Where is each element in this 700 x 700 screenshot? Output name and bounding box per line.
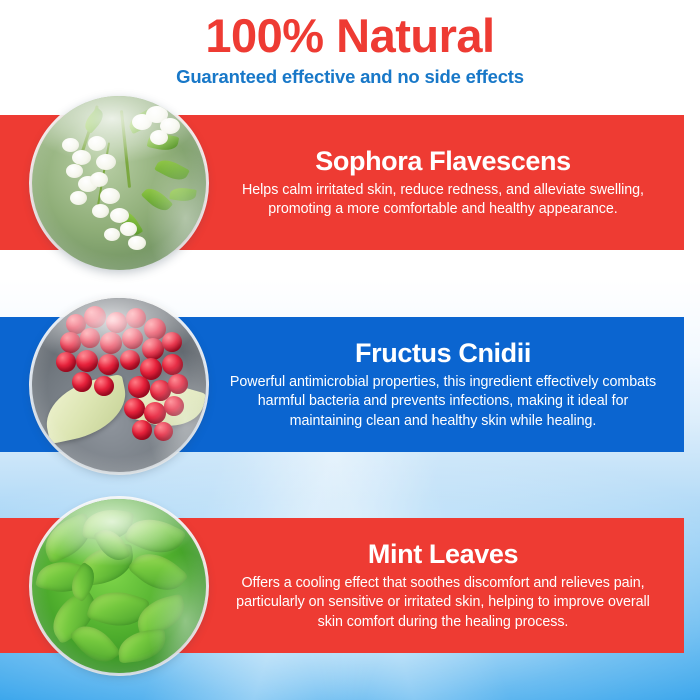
ingredient-description: Offers a cooling effect that soothes dis… bbox=[224, 574, 662, 632]
sophora-flower-illustration bbox=[32, 96, 206, 270]
ingredient-infographic: 100% Natural Guaranteed effective and no… bbox=[0, 0, 700, 700]
header: 100% Natural Guaranteed effective and no… bbox=[0, 8, 700, 88]
cnidii-berry-illustration bbox=[32, 298, 206, 472]
page-title: 100% Natural bbox=[0, 8, 700, 64]
ingredient-description: Helps calm irritated skin, reduce rednes… bbox=[224, 181, 662, 220]
ingredient-bar-content: Fructus Cnidii Powerful antimicrobial pr… bbox=[224, 336, 662, 431]
ingredient-title: Mint Leaves bbox=[224, 537, 662, 571]
page-subtitle: Guaranteed effective and no side effects bbox=[0, 66, 700, 88]
mint-leaves-photo bbox=[32, 499, 206, 673]
ingredient-title: Fructus Cnidii bbox=[224, 336, 662, 370]
fructus-cnidii-photo bbox=[32, 298, 206, 472]
mint-leaf-illustration bbox=[32, 499, 206, 673]
ingredient-title: Sophora Flavescens bbox=[224, 144, 662, 178]
ingredient-bar-content: Mint Leaves Offers a cooling effect that… bbox=[224, 537, 662, 632]
sophora-flavescens-photo bbox=[32, 96, 206, 270]
ingredient-bar-content: Sophora Flavescens Helps calm irritated … bbox=[224, 144, 662, 220]
ingredient-description: Powerful antimicrobial properties, this … bbox=[224, 373, 662, 431]
